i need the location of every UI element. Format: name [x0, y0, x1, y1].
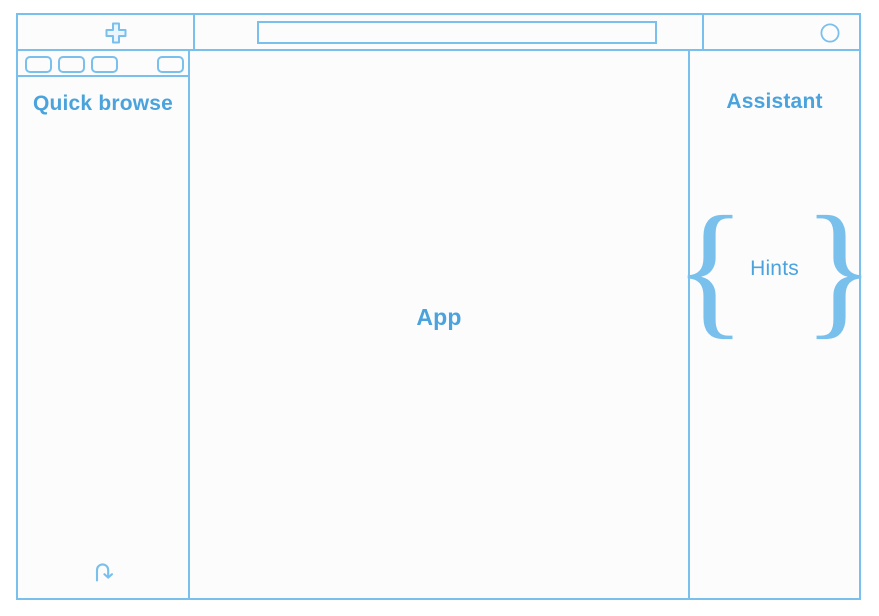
- circle-avatar-icon: [820, 23, 840, 43]
- toolbar-button-1[interactable]: [25, 56, 52, 73]
- toolbar-button-2[interactable]: [58, 56, 85, 73]
- wireframe-window: Quick browse App Assistant { Hints }: [16, 13, 861, 600]
- toolbar-button-4[interactable]: [157, 56, 184, 73]
- header-divider-right: [702, 15, 704, 51]
- add-tab-button[interactable]: [96, 18, 136, 48]
- assistant-title: Assistant: [690, 90, 859, 114]
- plus-icon: [104, 21, 128, 45]
- header-divider-left: [193, 15, 195, 51]
- address-input[interactable]: [257, 21, 657, 44]
- sidebar-toolbar: [18, 51, 188, 77]
- app-label: App: [416, 304, 461, 331]
- body-area: Quick browse App Assistant { Hints }: [18, 51, 859, 598]
- hints-group: { Hints }: [690, 196, 859, 341]
- u-turn-button[interactable]: [90, 559, 116, 590]
- sidebar-footer: [18, 559, 188, 590]
- sidebar-panel: Quick browse: [18, 51, 190, 598]
- app-canvas[interactable]: App: [190, 51, 690, 598]
- header-bar: [18, 15, 859, 51]
- toolbar-button-3[interactable]: [91, 56, 118, 73]
- hints-label: Hints: [750, 257, 799, 281]
- assistant-panel: Assistant { Hints }: [690, 51, 859, 598]
- profile-avatar-button[interactable]: [820, 23, 840, 43]
- sidebar-title: Quick browse: [18, 90, 188, 118]
- u-turn-arrow-icon: [90, 559, 116, 585]
